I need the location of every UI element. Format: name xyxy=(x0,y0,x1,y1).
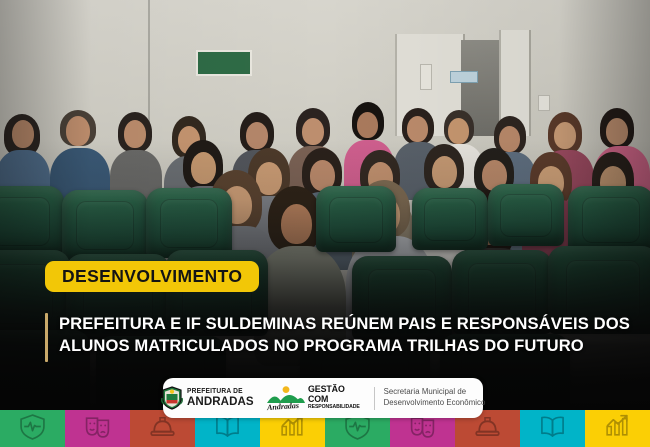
prefeitura-logo-text: PREFEITURA DE ANDRADAS xyxy=(187,388,259,407)
wall-seam xyxy=(148,0,150,128)
strip-block-theater-masks xyxy=(65,410,130,447)
gestao-logo-text: GESTÃO COM RESPONSABILIDADE xyxy=(308,385,364,410)
news-card: DESENVOLVIMENTO PREFEITURA E IF SULDEMIN… xyxy=(0,0,650,447)
strip-block-health-shield xyxy=(0,410,65,447)
gestao-logo: Andradas GESTÃO COM RESPONSABILIDADE xyxy=(267,385,364,411)
wall-green-sign xyxy=(196,50,252,76)
auditorium-chair xyxy=(0,186,64,256)
headline-accent-bar xyxy=(45,313,48,362)
door-sign xyxy=(450,71,478,83)
auditorium-chair xyxy=(62,190,148,260)
strip-block-growth-chart xyxy=(585,410,650,447)
gestao-logo-line-1: GESTÃO COM xyxy=(308,385,360,405)
headline-line-2: ALUNOS MATRICULADOS NO PROGRAMA TRILHAS … xyxy=(59,335,630,357)
footer-divider xyxy=(374,387,375,410)
auditorium-chair xyxy=(316,186,396,252)
auditorium-chair xyxy=(412,188,488,250)
open-book-icon xyxy=(539,413,566,445)
auditorium-chair xyxy=(146,188,232,258)
theater-masks-icon xyxy=(84,413,111,445)
wall-switch-plate xyxy=(420,64,432,90)
brasao-andradas-icon xyxy=(161,386,183,410)
health-shield-icon xyxy=(19,413,46,445)
headline-line-1: PREFEITURA E IF SULDEMINAS REÚNEM PAIS E… xyxy=(59,313,630,335)
strip-block-open-book xyxy=(520,410,585,447)
secretaria-line-1: Secretaria Municipal de xyxy=(384,387,486,398)
gestao-logo-line-2: RESPONSABILIDADE xyxy=(308,405,360,411)
category-badge: DESENVOLVIMENTO xyxy=(45,261,259,292)
gestao-hills-icon: Andradas xyxy=(267,385,305,411)
wall-outlet xyxy=(538,95,550,111)
secretaria-label: Secretaria Municipal de Desenvolvimento … xyxy=(384,387,486,409)
secretaria-line-2: Desenvolvimento Econômico xyxy=(384,398,486,409)
page-title: PREFEITURA E IF SULDEMINAS REÚNEM PAIS E… xyxy=(59,313,630,362)
category-badge-label: DESENVOLVIMENTO xyxy=(62,266,242,287)
prefeitura-logo-line-2: ANDRADAS xyxy=(187,395,254,407)
prefeitura-logo: PREFEITURA DE ANDRADAS xyxy=(161,386,259,410)
footer-logo-card: PREFEITURA DE ANDRADAS Andradas GESTÃO C… xyxy=(163,378,483,418)
gestao-script-text: Andradas xyxy=(267,401,300,412)
headline-block: PREFEITURA E IF SULDEMINAS REÚNEM PAIS E… xyxy=(45,313,625,362)
growth-chart-icon xyxy=(604,413,631,445)
auditorium-chair xyxy=(568,186,650,252)
hard-hat-icon xyxy=(474,413,501,445)
auditorium-chair xyxy=(488,184,564,246)
